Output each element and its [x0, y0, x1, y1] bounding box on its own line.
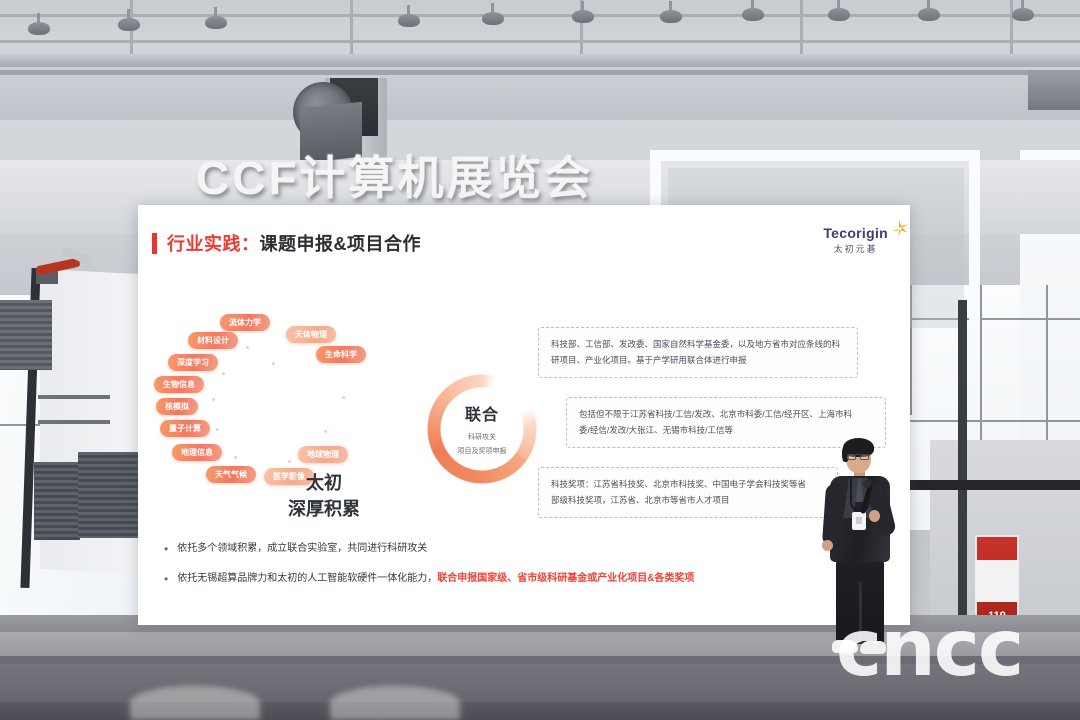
domain-tag: 生物信息 — [154, 376, 204, 393]
presenter-hand-right — [869, 510, 880, 522]
hall-banner-text: CCF计算机展览会 — [196, 142, 626, 198]
ceiling-lamp — [660, 10, 682, 23]
cloud-dot — [288, 460, 291, 463]
domain-tag: 流体力学 — [220, 314, 270, 331]
left-rail — [38, 395, 110, 399]
bullet-item: • 依托多个领域积累，成立联合实验室，共同进行科研攻关 — [160, 542, 860, 556]
cloud-dot — [246, 346, 249, 349]
title-highlight: 行业实践： — [167, 230, 260, 256]
brand-logo: Tecorigin 太初元碁 — [823, 225, 888, 255]
info-box-3-line2: 部级科技奖项，江苏省、北京市等省市人才项目 — [551, 493, 825, 509]
bullet-text: 依托无锡超算品牌力和太初的人工智能软硬件一体化能力，联合申报国家级、省市级科研基… — [177, 572, 694, 586]
left-rail — [38, 420, 110, 424]
ceiling-lamp — [828, 8, 850, 21]
title-accent-bar — [152, 233, 157, 254]
ceiling-vent-right — [1028, 70, 1080, 110]
domain-tag: 深度学习 — [168, 354, 218, 371]
domain-tag: 核模拟 — [156, 398, 198, 415]
cloud-dot — [342, 396, 345, 399]
collaboration-ring: 联合 科研攻关 项目及奖项申报 — [426, 373, 538, 485]
ceiling-lamp — [572, 10, 594, 23]
cloud-dot — [324, 430, 327, 433]
info-box-3: 科技奖项：江苏省科技奖、北京市科技奖、中国电子学会科技奖等省 部级科技奖项，江苏… — [538, 467, 838, 518]
ceiling-lamp — [482, 12, 504, 25]
slide-content: 行业实践： 课题申报&项目合作 Tecorigin 太初元碁 — [138, 205, 910, 625]
ceiling-lamp — [742, 8, 764, 21]
ring-sub2: 项目及奖项申报 — [426, 446, 538, 458]
logo-text-en: Tecorigin — [823, 225, 888, 241]
domain-tag: 地球物理 — [298, 446, 348, 463]
ceiling-lamp — [205, 16, 227, 29]
info-box-1-line2: 研项目、产业化项目。基于产学研用联合体进行申报 — [551, 353, 845, 369]
domain-tag: 地理信息 — [172, 444, 222, 461]
bullet-dot-icon: • — [164, 572, 168, 586]
ring-labels: 联合 科研攻关 项目及奖项申报 — [426, 401, 538, 458]
ring-title: 联合 — [426, 401, 538, 425]
bullet-highlight: 联合申报国家级、省市级科研基金或产业化项目&各类奖项 — [437, 573, 694, 584]
info-box-1-line1: 科技部、工信部、发改委、国家自然科学基金委，以及地方省市对应条线的科 — [551, 337, 845, 353]
cloud-dot — [216, 428, 219, 431]
fire-box-label — [975, 560, 1019, 602]
robot-arm-icon — [36, 248, 96, 284]
cloud-center-line1: 太初 — [264, 470, 384, 496]
domain-tag: 天气气候 — [206, 466, 256, 483]
presenter-hand-left — [822, 540, 833, 551]
domain-tag: 材料设计 — [188, 332, 238, 349]
cloud-dot — [212, 398, 215, 401]
title-main: 课题申报&项目合作 — [260, 230, 422, 256]
domain-tag: 生命科学 — [316, 346, 366, 363]
logo-text-cn: 太初元碁 — [823, 242, 888, 255]
presenter-badge — [852, 512, 866, 530]
cloud-center-label: 太初 深厚积累 — [264, 470, 384, 522]
ceiling-lamp — [118, 18, 140, 31]
right-support-post — [958, 300, 967, 630]
ceiling-lamp — [918, 8, 940, 21]
ceiling-lamp — [398, 14, 420, 27]
ceiling-truss — [0, 0, 1080, 54]
info-box-1: 科技部、工信部、发改委、国家自然科学基金委，以及地方省市对应条线的科 研项目、产… — [538, 327, 858, 378]
microphone-head-icon — [863, 480, 871, 488]
bullet-item: • 依托无锡超算品牌力和太初的人工智能软硬件一体化能力，联合申报国家级、省市级科… — [160, 572, 860, 586]
ceiling-beam — [0, 54, 1080, 67]
ceiling-lamp — [1012, 8, 1034, 21]
right-dark-bar — [905, 480, 1080, 490]
ceiling-lamp — [28, 22, 50, 35]
ceiling-beam-shadow — [0, 70, 1080, 75]
stage-floor-reflection — [130, 686, 260, 720]
info-box-2-line1: 包括但不限于江苏省科技/工信/发改、北京市科委/工信/经开区、上海市科 — [579, 407, 873, 423]
presentation-screen: 行业实践： 课题申报&项目合作 Tecorigin 太初元碁 — [138, 205, 910, 625]
bullet-dot-icon: • — [164, 542, 168, 556]
slide-title: 行业实践： 课题申报&项目合作 — [152, 230, 421, 256]
domain-tag: 天体物理 — [286, 326, 336, 343]
glasses-icon — [847, 454, 870, 459]
cloud-center-line2: 深厚积累 — [264, 496, 384, 522]
cloud-dot — [222, 372, 225, 375]
wall-grille — [0, 300, 52, 370]
bullet-text: 依托多个领域积累，成立联合实验室，共同进行科研攻关 — [177, 542, 427, 556]
logo-burst-icon — [888, 218, 910, 240]
info-box-3-line1: 科技奖项：江苏省科技奖、北京市科技奖、中国电子学会科技奖等省 — [551, 477, 825, 493]
domain-tag-cloud: 流体力学天体物理材料设计生命科学深度学习生物信息核模拟量子计算地理信息地球物理天… — [146, 310, 414, 510]
domain-tag: 量子计算 — [160, 420, 210, 437]
slide-bullets: • 依托多个领域积累，成立联合实验室，共同进行科研攻关 • 依托无锡超算品牌力和… — [160, 542, 860, 601]
stage-floor-reflection — [330, 686, 460, 720]
cloud-dot — [272, 362, 275, 365]
cncc-watermark: cncc — [836, 610, 1022, 688]
ring-sub1: 科研攻关 — [426, 432, 538, 444]
equipment-grille — [34, 462, 80, 540]
cloud-dot — [234, 456, 237, 459]
